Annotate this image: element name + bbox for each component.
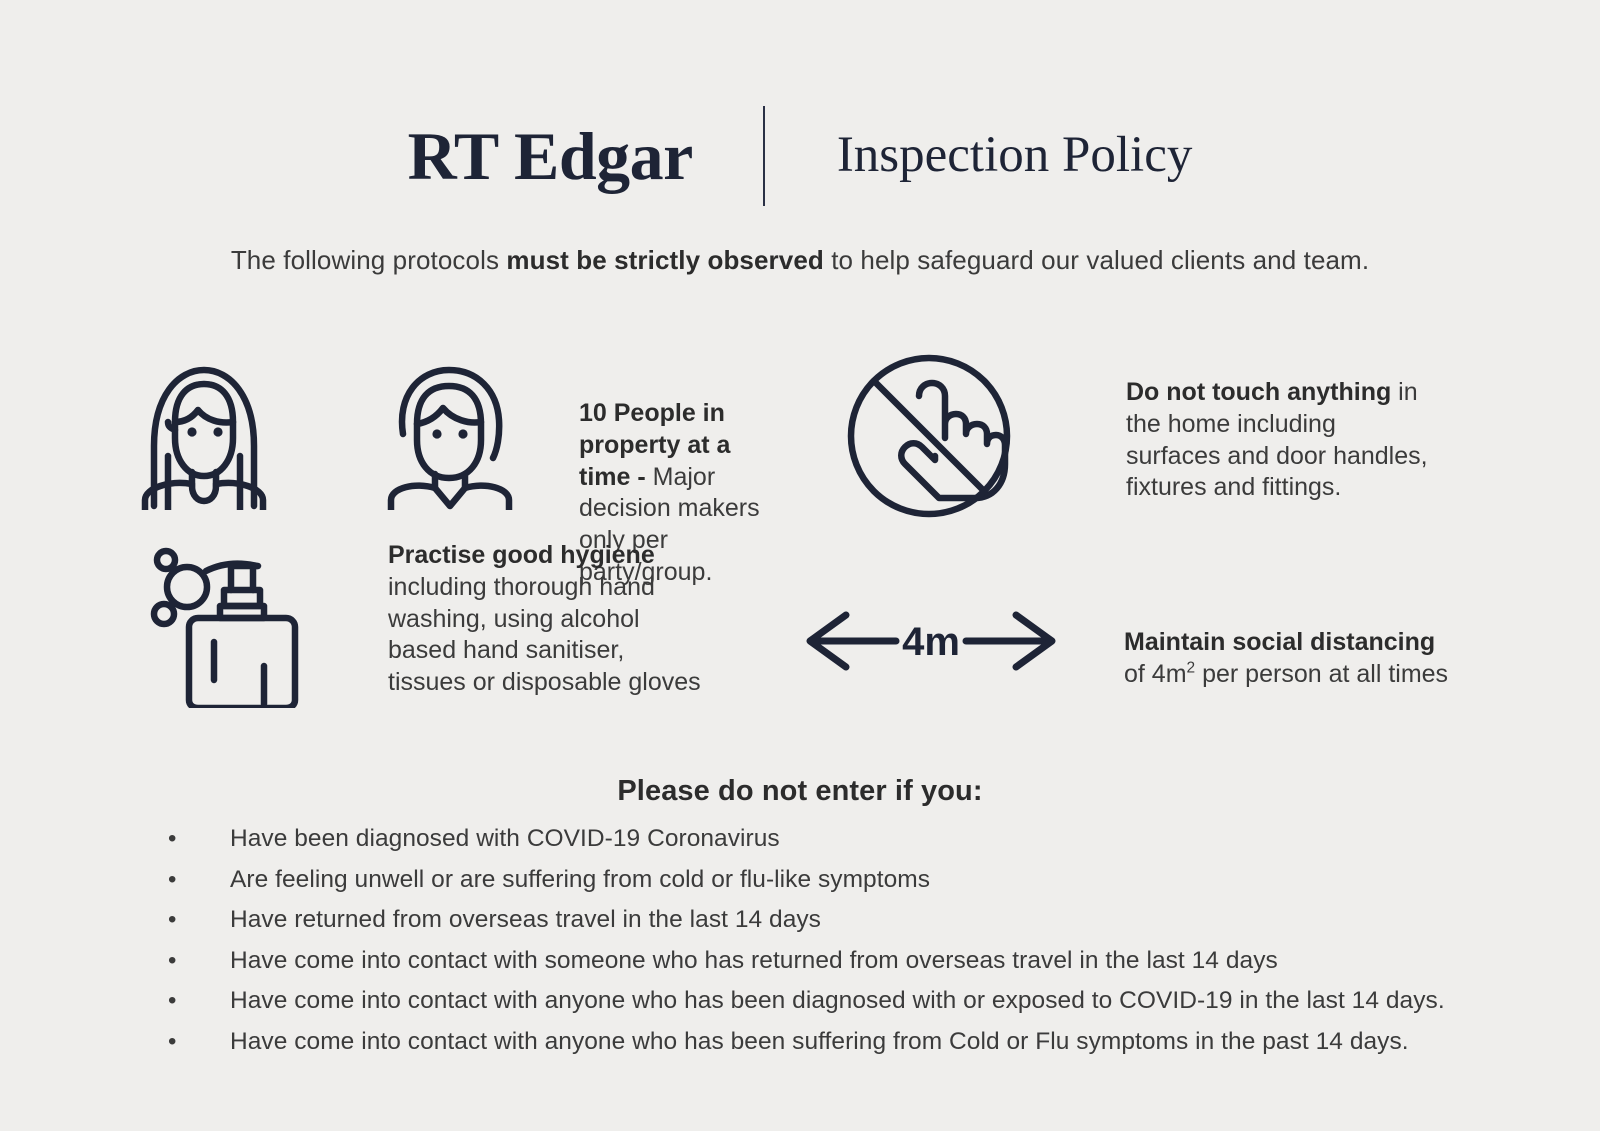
list-item-label: Have come into contact with someone who … [230, 949, 1600, 974]
list-item-label: Have come into contact with anyone who h… [230, 1030, 1600, 1055]
poster-header: RT Edgar Inspection Policy [0, 103, 1600, 208]
list-item-label: Are feeling unwell or are suffering from… [230, 868, 1600, 893]
list-item-label: Have returned from overseas travel in th… [230, 908, 1600, 933]
distance-arrows-label: 4m [902, 620, 960, 664]
intro-text-after: to help safeguard our valued clients and… [824, 245, 1369, 275]
page-title: Inspection Policy [765, 130, 1193, 181]
bullet-icon: • [168, 827, 230, 851]
list-item: • Are feeling unwell or are suffering fr… [168, 868, 1600, 893]
two-people-icon [140, 360, 517, 510]
bullet-icon: • [168, 989, 230, 1013]
bullet-icon: • [168, 949, 230, 973]
bullet-icon: • [168, 868, 230, 892]
protocol-social-distancing-rest-after: per person at all times [1195, 660, 1448, 688]
protocol-grid: 10 People in property at a time - Major … [0, 350, 1600, 750]
intro-statement: The following protocols must be strictly… [0, 245, 1600, 276]
list-item: • Have returned from overseas travel in … [168, 908, 1600, 933]
protocol-hygiene: Practise good hygiene including thorough… [140, 538, 780, 708]
protocol-social-distancing: 4m Maintain social distancing of 4m2 per… [800, 605, 1500, 691]
protocol-no-touch-text: Do not touch anything in the home includ… [1126, 352, 1436, 504]
protocol-hygiene-text: Practise good hygiene including thorough… [388, 538, 703, 699]
protocol-social-distancing-superscript: 2 [1187, 659, 1196, 676]
protocol-social-distancing-rest-before: of 4m [1124, 660, 1187, 688]
list-item-label: Have come into contact with anyone who h… [230, 989, 1600, 1014]
bullet-icon: • [168, 1030, 230, 1054]
do-not-enter-heading: Please do not enter if you: [0, 775, 1600, 808]
brand-logo: RT Edgar [408, 122, 763, 190]
list-item-label: Have been diagnosed with COVID-19 Corona… [230, 827, 1600, 852]
protocol-social-distancing-text: Maintain social distancing of 4m2 per pe… [1124, 605, 1454, 691]
list-item: • Have come into contact with anyone who… [168, 989, 1600, 1014]
list-item: • Have been diagnosed with COVID-19 Coro… [168, 827, 1600, 852]
no-touch-hand-icon [845, 352, 1013, 520]
protocol-no-touch-emphasis: Do not touch anything [1126, 378, 1391, 406]
do-not-enter-list: • Have been diagnosed with COVID-19 Coro… [0, 827, 1600, 1054]
distance-arrows-icon: 4m [800, 605, 1062, 677]
intro-text-before: The following protocols [231, 245, 507, 275]
soap-dispenser-icon [140, 538, 320, 708]
protocol-social-distancing-emphasis: Maintain social distancing [1124, 628, 1435, 656]
bullet-icon: • [168, 908, 230, 932]
protocol-hygiene-rest: including thorough hand washing, using a… [388, 573, 701, 696]
protocol-hygiene-emphasis: Practise good hygiene [388, 541, 655, 569]
intro-text-emphasis: must be strictly observed [506, 245, 824, 275]
list-item: • Have come into contact with someone wh… [168, 949, 1600, 974]
protocol-no-touch: Do not touch anything in the home includ… [845, 352, 1485, 520]
inspection-policy-poster: RT Edgar Inspection Policy The following… [0, 0, 1600, 1131]
do-not-enter-block: Please do not enter if you: • Have been … [0, 775, 1600, 1070]
list-item: • Have come into contact with anyone who… [168, 1030, 1600, 1055]
